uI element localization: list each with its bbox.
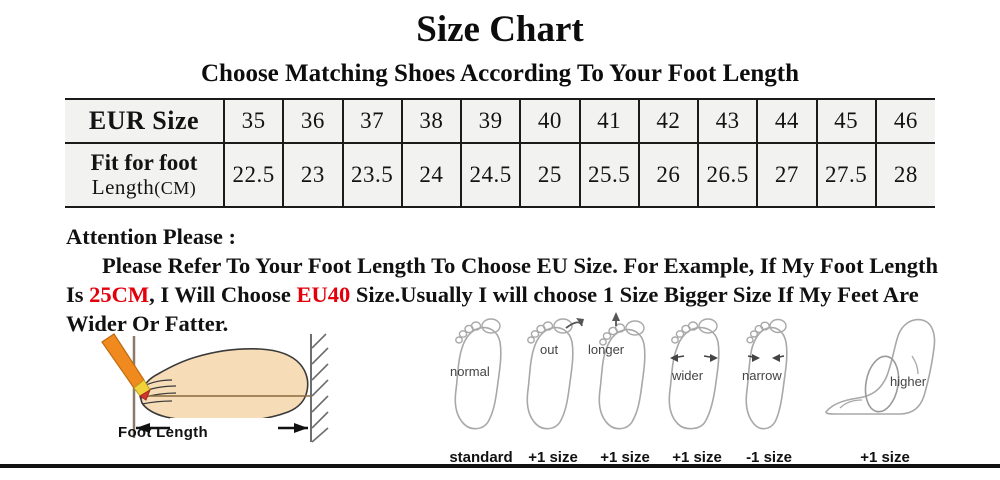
cell-eur-46: 46 [876,99,935,143]
cell-length-35: 22.5 [224,143,283,207]
foot-guide-longer-inner-label: longer [588,342,624,357]
cell-length-43: 26.5 [698,143,757,207]
arrow-head-right [294,423,308,433]
cell-length-40: 25 [520,143,579,207]
row-header-foot-length: Fit for foot Length(CM) [65,143,224,207]
foot-shape [140,349,308,422]
row-header-foot-length-word: Length [92,175,154,199]
foot-guide-out-inner-label: out [540,342,558,357]
cell-length-44: 27 [757,143,816,207]
size-chart-table: EUR Size 35 36 37 38 39 40 41 42 43 44 4… [65,98,935,208]
cell-eur-38: 38 [402,99,461,143]
cell-length-37: 23.5 [343,143,402,207]
wall-hatching [312,334,328,442]
cell-length-45: 27.5 [817,143,876,207]
attention-highlight-length: 25CM [89,282,149,307]
attention-line-1: Please Refer To Your Foot Length To Choo… [102,253,864,278]
foot-guide-narrow: narrow -1 size [726,312,812,472]
foot-guide-normal-inner-label: normal [450,364,490,379]
cell-eur-42: 42 [639,99,698,143]
cell-eur-39: 39 [461,99,520,143]
table-row-foot-length: Fit for foot Length(CM) 22.5 23 23.5 24 … [65,143,935,207]
row-header-foot-length-line2: Length(CM) [69,175,219,199]
attention-heading: Attention Please : [66,222,946,251]
foot-guide-wider-inner-label: wider [672,368,703,383]
cell-length-36: 23 [283,143,342,207]
page-title: Size Chart [0,8,1000,51]
foot-guide-narrow-inner-label: narrow [742,368,782,383]
row-header-foot-length-unit: (CM) [154,178,196,198]
attention-highlight-eu-size: EU40 [296,282,350,307]
cell-length-46: 28 [876,143,935,207]
cell-length-41: 25.5 [580,143,639,207]
row-header-foot-length-line1: Fit for foot [69,151,219,175]
attention-line2-part-b: , I Will Choose [149,282,296,307]
foot-outline-higher-icon [820,312,950,432]
cell-eur-36: 36 [283,99,342,143]
cell-eur-45: 45 [817,99,876,143]
cell-eur-44: 44 [757,99,816,143]
cell-eur-35: 35 [224,99,283,143]
cell-length-38: 24 [402,143,461,207]
foot-shape-guide: normal standard out +1 size [438,312,958,472]
cell-eur-43: 43 [698,99,757,143]
cell-length-39: 24.5 [461,143,520,207]
table-row-eur-size: EUR Size 35 36 37 38 39 40 41 42 43 44 4… [65,99,935,143]
cell-eur-41: 41 [580,99,639,143]
cell-length-42: 26 [639,143,698,207]
pencil-icon [102,334,150,400]
out-direction-arrow [566,322,582,328]
cell-eur-37: 37 [343,99,402,143]
page-subtitle: Choose Matching Shoes According To Your … [0,60,1000,88]
row-header-eur-size-label: EUR Size [89,106,199,135]
foot-guide-higher-inner-label: higher [890,374,926,389]
bottom-divider [0,464,1000,468]
foot-guide-higher: higher +1 size [820,312,950,472]
attention-line2-part-c: Size.Usually I will choose 1 Size Bigger… [350,282,793,307]
cell-eur-40: 40 [520,99,579,143]
foot-length-label: Foot Length [118,424,208,441]
row-header-eur-size: EUR Size [65,99,224,143]
